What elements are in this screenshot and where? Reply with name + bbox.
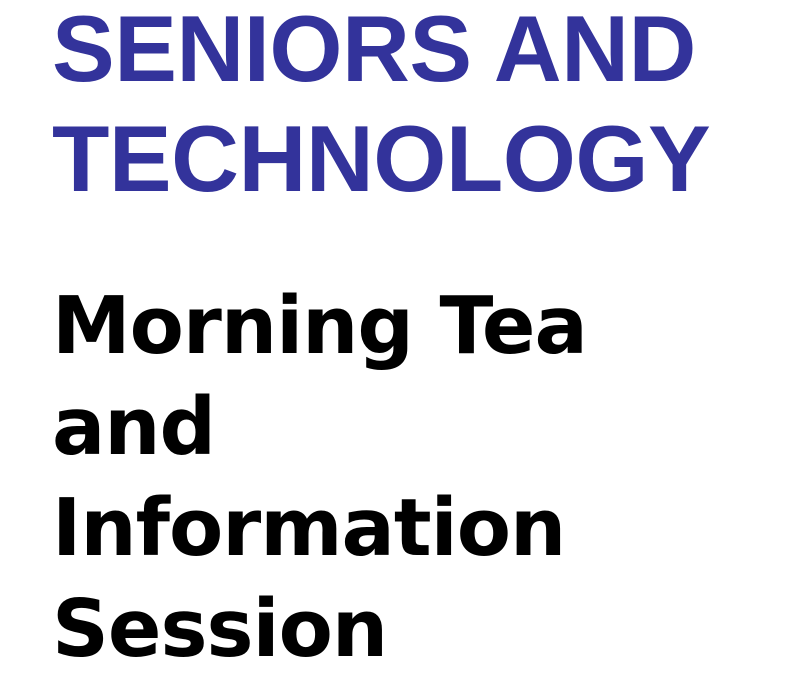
page-title: SENIORS AND TECHNOLOGY: [52, 0, 742, 214]
page-subtitle: Morning Tea and Information Session: [52, 276, 752, 680]
poster-canvas: SENIORS AND TECHNOLOGY Morning Tea and I…: [0, 0, 798, 654]
